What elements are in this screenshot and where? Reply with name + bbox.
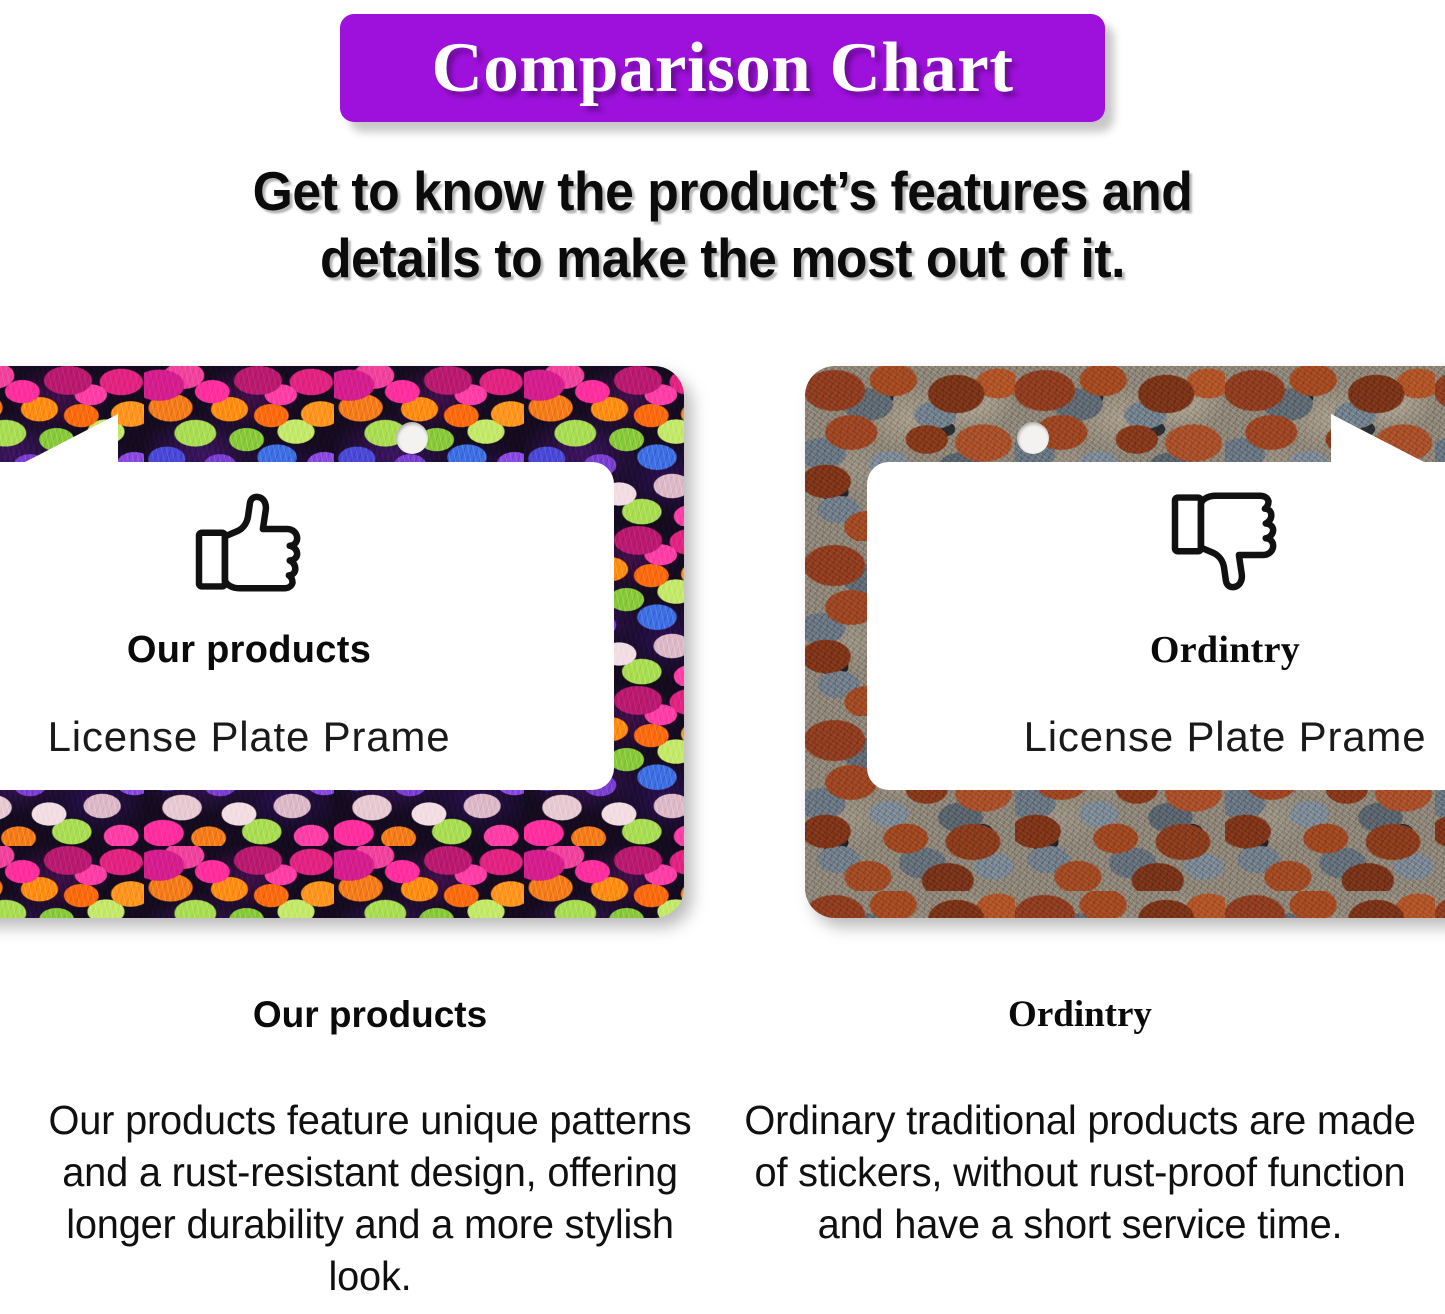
column-body-ordinary: Ordinary traditional products are made o…	[741, 1094, 1420, 1250]
plate-window-ordinary	[867, 462, 1445, 790]
product-frame-ordinary: Ordintry License Plate Prame	[805, 366, 1445, 918]
column-body-ours: Our products feature unique patterns and…	[31, 1094, 710, 1302]
column-heading-ours: Our products	[20, 995, 720, 1036]
subtitle: Get to know the product’s features and d…	[43, 158, 1401, 292]
comparison-column-ordinary: Ordintry Ordinary traditional products a…	[730, 995, 1430, 1250]
plate-window-ours	[0, 462, 614, 790]
title-badge: Comparison Chart	[340, 14, 1105, 122]
comparison-column-ours: Our products Our products feature unique…	[20, 995, 720, 1302]
comparison-chart-page: Comparison Chart Get to know the product…	[0, 0, 1445, 1314]
subtitle-line-1: Get to know the product’s features and	[43, 158, 1401, 225]
screw-hole-ours	[396, 422, 428, 454]
subtitle-line-2: details to make the most out of it.	[43, 225, 1401, 292]
screw-hole-ordinary	[1017, 422, 1049, 454]
page-title: Comparison Chart	[432, 28, 1014, 109]
product-frame-ours: Our products License Plate Prame	[0, 366, 684, 918]
column-heading-ordinary: Ordintry	[730, 995, 1430, 1036]
